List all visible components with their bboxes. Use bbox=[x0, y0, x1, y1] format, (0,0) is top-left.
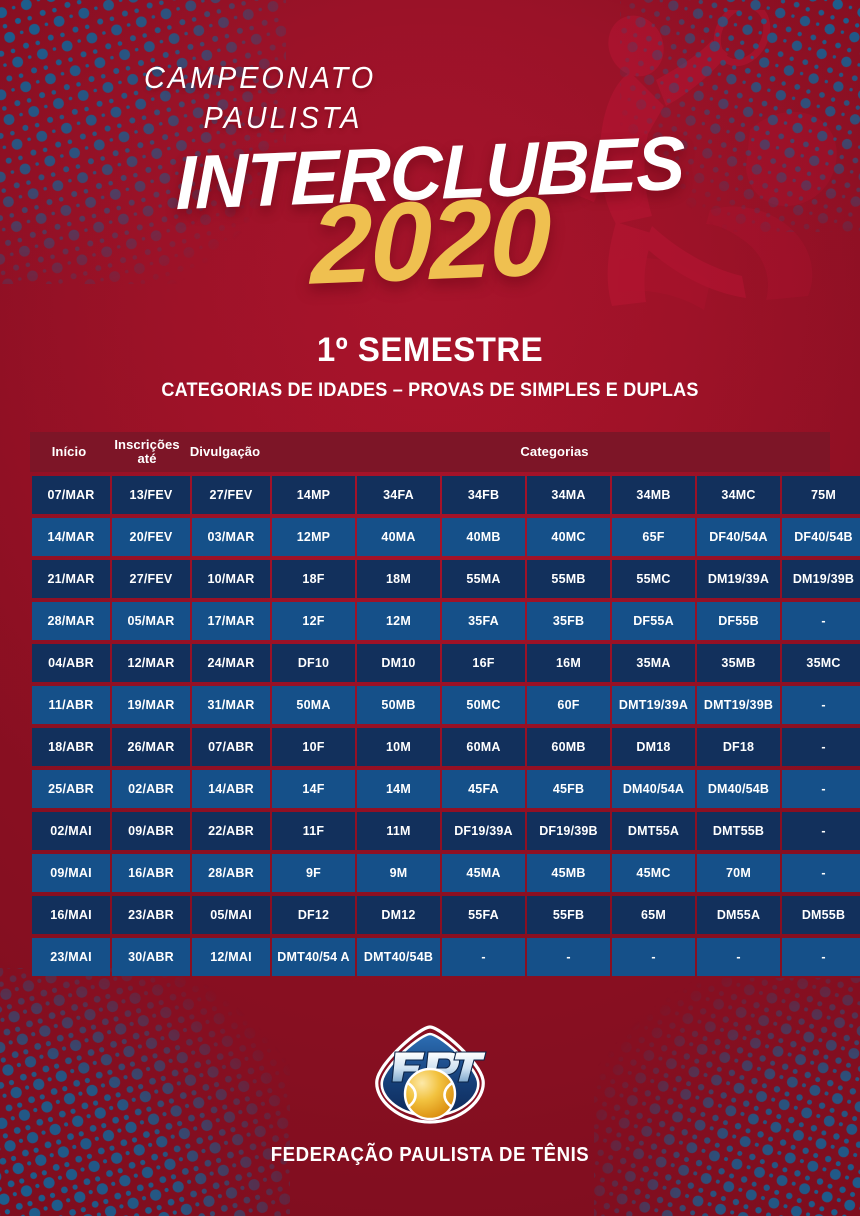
cell-categoria: 12F bbox=[272, 602, 355, 640]
cell-categoria: 45MC bbox=[612, 854, 695, 892]
cell-categoria: 34FA bbox=[357, 476, 440, 514]
cell-divulgacao: 10/MAR bbox=[192, 560, 270, 598]
schedule-section: Início Inscrições até Divulgação Categor… bbox=[30, 432, 830, 980]
column-header-inscricoes-ate: Inscrições até bbox=[108, 432, 186, 472]
cell-divulgacao: 31/MAR bbox=[192, 686, 270, 724]
table-row: 16/MAI23/ABR05/MAIDF12DM1255FA55FB65MDM5… bbox=[32, 896, 860, 934]
cell-categoria: DM19/39B bbox=[782, 560, 860, 598]
cell-categoria: 45MA bbox=[442, 854, 525, 892]
cell-categoria: 40MB bbox=[442, 518, 525, 556]
table-row: 21/MAR27/FEV10/MAR18F18M55MA55MB55MCDM19… bbox=[32, 560, 860, 598]
kicker-line-1: CAMPEONATO bbox=[144, 58, 708, 98]
cell-categoria: DMT40/54B bbox=[357, 938, 440, 976]
cell-divulgacao: 27/FEV bbox=[192, 476, 270, 514]
cell-categoria: 50MB bbox=[357, 686, 440, 724]
cell-inicio: 04/ABR bbox=[32, 644, 110, 682]
table-row: 14/MAR20/FEV03/MAR12MP40MA40MB40MC65FDF4… bbox=[32, 518, 860, 556]
cell-inscricoes: 19/MAR bbox=[112, 686, 190, 724]
cell-categoria: 40MA bbox=[357, 518, 440, 556]
cell-inicio: 16/MAI bbox=[32, 896, 110, 934]
cell-categoria: DM10 bbox=[357, 644, 440, 682]
cell-categoria: - bbox=[782, 938, 860, 976]
cell-inscricoes: 12/MAR bbox=[112, 644, 190, 682]
cell-categoria: 34FB bbox=[442, 476, 525, 514]
cell-categoria: 35MC bbox=[782, 644, 860, 682]
table-row: 07/MAR13/FEV27/FEV14MP34FA34FB34MA34MB34… bbox=[32, 476, 860, 514]
cell-categoria: DF19/39A bbox=[442, 812, 525, 850]
cell-inicio: 11/ABR bbox=[32, 686, 110, 724]
cell-categoria: DMT55A bbox=[612, 812, 695, 850]
cell-categoria: DF18 bbox=[697, 728, 780, 766]
cell-categoria: - bbox=[782, 602, 860, 640]
table-header-band: Início Inscrições até Divulgação Categor… bbox=[30, 432, 830, 472]
cell-categoria: 60MB bbox=[527, 728, 610, 766]
table-row: 09/MAI16/ABR28/ABR9F9M45MA45MB45MC70M- bbox=[32, 854, 860, 892]
cell-categoria: DM40/54B bbox=[697, 770, 780, 808]
cell-categoria: - bbox=[782, 728, 860, 766]
cell-categoria: 40MC bbox=[527, 518, 610, 556]
cell-categoria: DF19/39B bbox=[527, 812, 610, 850]
table-row: 04/ABR12/MAR24/MARDF10DM1016F16M35MA35MB… bbox=[32, 644, 860, 682]
subtitle: CATEGORIAS DE IDADES – PROVAS DE SIMPLES… bbox=[22, 380, 839, 402]
cell-categoria: DMT40/54 A bbox=[272, 938, 355, 976]
cell-inicio: 28/MAR bbox=[32, 602, 110, 640]
cell-divulgacao: 05/MAI bbox=[192, 896, 270, 934]
cell-categoria: DMT19/39B bbox=[697, 686, 780, 724]
cell-categoria: - bbox=[782, 812, 860, 850]
table-row: 18/ABR26/MAR07/ABR10F10M60MA60MBDM18DF18… bbox=[32, 728, 860, 766]
cell-categoria: 11F bbox=[272, 812, 355, 850]
cell-categoria: 18F bbox=[272, 560, 355, 598]
cell-categoria: 35FB bbox=[527, 602, 610, 640]
cell-inicio: 07/MAR bbox=[32, 476, 110, 514]
cell-categoria: DF55B bbox=[697, 602, 780, 640]
cell-categoria: DM55B bbox=[782, 896, 860, 934]
cell-categoria: DM12 bbox=[357, 896, 440, 934]
cell-categoria: DM55A bbox=[697, 896, 780, 934]
table-row: 11/ABR19/MAR31/MAR50MA50MB50MC60FDMT19/3… bbox=[32, 686, 860, 724]
cell-categoria: 50MC bbox=[442, 686, 525, 724]
cell-categoria: DF12 bbox=[272, 896, 355, 934]
cell-categoria: 50MA bbox=[272, 686, 355, 724]
cell-categoria: 16F bbox=[442, 644, 525, 682]
cell-categoria: 10M bbox=[357, 728, 440, 766]
cell-categoria: DF10 bbox=[272, 644, 355, 682]
cell-categoria: 65M bbox=[612, 896, 695, 934]
cell-categoria: 55MB bbox=[527, 560, 610, 598]
cell-categoria: 35FA bbox=[442, 602, 525, 640]
cell-categoria: 55FA bbox=[442, 896, 525, 934]
cell-categoria: 9F bbox=[272, 854, 355, 892]
cell-divulgacao: 28/ABR bbox=[192, 854, 270, 892]
cell-categoria: DM19/39A bbox=[697, 560, 780, 598]
poster-header: CAMPEONATO PAULISTA INTERCLUBES 2020 1º … bbox=[0, 0, 860, 402]
cell-categoria: 55FB bbox=[527, 896, 610, 934]
cell-inicio: 25/ABR bbox=[32, 770, 110, 808]
column-header-inicio: Início bbox=[30, 432, 108, 472]
cell-categoria: DF40/54B bbox=[782, 518, 860, 556]
cell-categoria: 60F bbox=[527, 686, 610, 724]
cell-inscricoes: 02/ABR bbox=[112, 770, 190, 808]
cell-categoria: 55MA bbox=[442, 560, 525, 598]
cell-categoria: - bbox=[782, 770, 860, 808]
cell-inicio: 18/ABR bbox=[32, 728, 110, 766]
cell-categoria: DF55A bbox=[612, 602, 695, 640]
column-header-categorias: Categorias bbox=[264, 432, 845, 472]
cell-divulgacao: 12/MAI bbox=[192, 938, 270, 976]
cell-categoria: 34MB bbox=[612, 476, 695, 514]
cell-categoria: 55MC bbox=[612, 560, 695, 598]
federation-name: FEDERAÇÃO PAULISTA DE TÊNIS bbox=[30, 1144, 830, 1167]
table-row: 02/MAI09/ABR22/ABR11F11MDF19/39ADF19/39B… bbox=[32, 812, 860, 850]
cell-categoria: - bbox=[612, 938, 695, 976]
cell-categoria: - bbox=[527, 938, 610, 976]
cell-inscricoes: 13/FEV bbox=[112, 476, 190, 514]
cell-categoria: DMT55B bbox=[697, 812, 780, 850]
semester-heading: 1º SEMESTRE bbox=[13, 331, 847, 370]
cell-categoria: 45MB bbox=[527, 854, 610, 892]
cell-inscricoes: 05/MAR bbox=[112, 602, 190, 640]
cell-categoria: DF40/54A bbox=[697, 518, 780, 556]
cell-categoria: 35MB bbox=[697, 644, 780, 682]
cell-categoria: 12M bbox=[357, 602, 440, 640]
table-row: 25/ABR02/ABR14/ABR14F14M45FA45FBDM40/54A… bbox=[32, 770, 860, 808]
cell-divulgacao: 07/ABR bbox=[192, 728, 270, 766]
fpt-logo-icon bbox=[368, 1022, 492, 1134]
cell-categoria: DMT19/39A bbox=[612, 686, 695, 724]
cell-inscricoes: 30/ABR bbox=[112, 938, 190, 976]
cell-categoria: - bbox=[782, 686, 860, 724]
cell-categoria: 34MC bbox=[697, 476, 780, 514]
cell-inicio: 21/MAR bbox=[32, 560, 110, 598]
cell-categoria: 14MP bbox=[272, 476, 355, 514]
cell-divulgacao: 03/MAR bbox=[192, 518, 270, 556]
poster-footer: FEDERAÇÃO PAULISTA DE TÊNIS bbox=[0, 1022, 860, 1167]
cell-divulgacao: 14/ABR bbox=[192, 770, 270, 808]
cell-categoria: DM18 bbox=[612, 728, 695, 766]
cell-categoria: 65F bbox=[612, 518, 695, 556]
cell-inicio: 14/MAR bbox=[32, 518, 110, 556]
column-header-divulgacao: Divulgação bbox=[186, 432, 264, 472]
cell-categoria: 34MA bbox=[527, 476, 610, 514]
cell-inicio: 02/MAI bbox=[32, 812, 110, 850]
cell-categoria: 70M bbox=[697, 854, 780, 892]
cell-categoria: 12MP bbox=[272, 518, 355, 556]
cell-divulgacao: 24/MAR bbox=[192, 644, 270, 682]
cell-categoria: 14F bbox=[272, 770, 355, 808]
cell-inscricoes: 16/ABR bbox=[112, 854, 190, 892]
cell-categoria: 14M bbox=[357, 770, 440, 808]
cell-categoria: - bbox=[442, 938, 525, 976]
inscricoes-line-1: Inscrições bbox=[114, 437, 179, 452]
cell-inscricoes: 09/ABR bbox=[112, 812, 190, 850]
table-row: 23/MAI30/ABR12/MAIDMT40/54 ADMT40/54B---… bbox=[32, 938, 860, 976]
cell-inscricoes: 27/FEV bbox=[112, 560, 190, 598]
cell-divulgacao: 17/MAR bbox=[192, 602, 270, 640]
cell-categoria: 18M bbox=[357, 560, 440, 598]
cell-categoria: 75M bbox=[782, 476, 860, 514]
cell-categoria: DM40/54A bbox=[612, 770, 695, 808]
cell-categoria: - bbox=[782, 854, 860, 892]
cell-inicio: 23/MAI bbox=[32, 938, 110, 976]
table-row: 28/MAR05/MAR17/MAR12F12M35FA35FBDF55ADF5… bbox=[32, 602, 860, 640]
inscricoes-line-2: até bbox=[137, 451, 156, 466]
cell-categoria: 45FB bbox=[527, 770, 610, 808]
cell-inscricoes: 26/MAR bbox=[112, 728, 190, 766]
cell-divulgacao: 22/ABR bbox=[192, 812, 270, 850]
cell-inicio: 09/MAI bbox=[32, 854, 110, 892]
cell-inscricoes: 20/FEV bbox=[112, 518, 190, 556]
cell-categoria: 10F bbox=[272, 728, 355, 766]
cell-categoria: 35MA bbox=[612, 644, 695, 682]
cell-categoria: 16M bbox=[527, 644, 610, 682]
cell-categoria: 60MA bbox=[442, 728, 525, 766]
cell-categoria: - bbox=[697, 938, 780, 976]
cell-inscricoes: 23/ABR bbox=[112, 896, 190, 934]
cell-categoria: 45FA bbox=[442, 770, 525, 808]
cell-categoria: 11M bbox=[357, 812, 440, 850]
schedule-table: 07/MAR13/FEV27/FEV14MP34FA34FB34MA34MB34… bbox=[30, 472, 860, 980]
cell-categoria: 9M bbox=[357, 854, 440, 892]
